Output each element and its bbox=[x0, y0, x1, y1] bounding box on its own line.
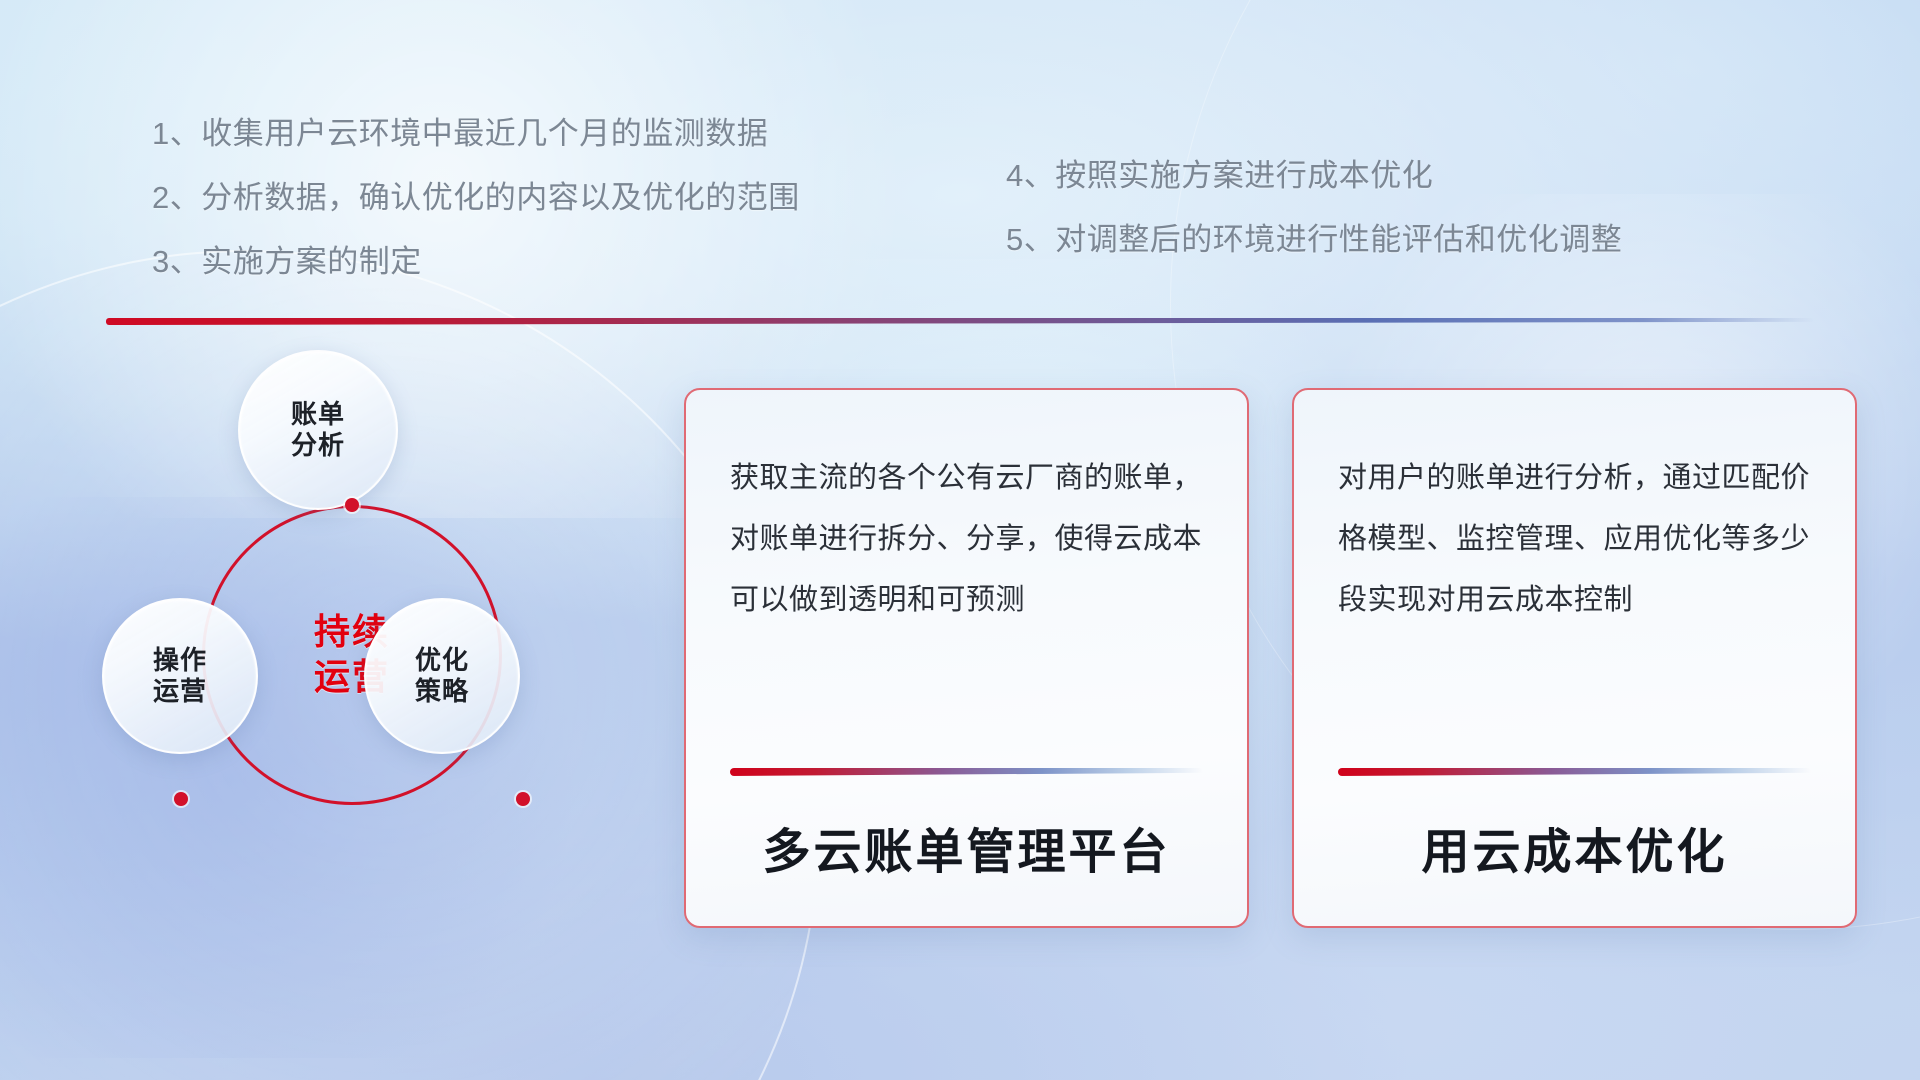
continuous-operations-diagram: 持续 运营 账单 分析 操作 运营 优化 策略 bbox=[96, 350, 626, 950]
step-item-5: 5、对调整后的环境进行性能评估和优化调整 bbox=[1006, 224, 1622, 255]
card1-title: 多云账单管理平台 bbox=[686, 812, 1247, 882]
step-item-2: 2、分析数据，确认优化的内容以及优化的范围 bbox=[152, 182, 800, 213]
node-operation-ops-label: 操作 运营 bbox=[153, 645, 207, 707]
steps-right-column: 4、按照实施方案进行成本优化 5、对调整后的环境进行性能评估和优化调整 bbox=[1006, 160, 1622, 288]
node-operation-ops-line1: 操作 bbox=[153, 645, 207, 675]
card-cloud-cost-optimization[interactable]: 对用户的账单进行分析，通过匹配价格模型、监控管理、应用优化等多少段实现对用云成本… bbox=[1292, 388, 1857, 928]
card2-divider bbox=[1338, 768, 1811, 776]
node-optimize-strategy-line1: 优化 bbox=[415, 645, 469, 675]
card1-body-text: 获取主流的各个公有云厂商的账单，对账单进行拆分、分享，使得云成本可以做到透明和可… bbox=[686, 390, 1247, 631]
node-bill-analysis[interactable]: 账单 分析 bbox=[238, 350, 398, 510]
steps-left-column: 1、收集用户云环境中最近几个月的监测数据 2、分析数据，确认优化的内容以及优化的… bbox=[152, 118, 800, 310]
node-bill-analysis-label: 账单 分析 bbox=[291, 399, 345, 461]
card1-divider bbox=[730, 768, 1203, 776]
node-optimize-strategy-line2: 策略 bbox=[415, 676, 469, 706]
card-multi-cloud-billing-platform[interactable]: 获取主流的各个公有云厂商的账单，对账单进行拆分、分享，使得云成本可以做到透明和可… bbox=[684, 388, 1249, 928]
step-item-1: 1、收集用户云环境中最近几个月的监测数据 bbox=[152, 118, 800, 149]
node-operation-ops-line2: 运营 bbox=[153, 676, 207, 706]
step-item-4: 4、按照实施方案进行成本优化 bbox=[1006, 160, 1622, 191]
node-bill-analysis-line2: 分析 bbox=[291, 430, 345, 460]
node-operation-ops[interactable]: 操作 运营 bbox=[102, 598, 258, 754]
node-dot-right-icon bbox=[516, 792, 530, 806]
step-item-3: 3、实施方案的制定 bbox=[152, 246, 800, 277]
node-optimize-strategy[interactable]: 优化 策略 bbox=[364, 598, 520, 754]
node-dot-left-icon bbox=[174, 792, 188, 806]
card2-title: 用云成本优化 bbox=[1294, 812, 1855, 882]
card2-body-text: 对用户的账单进行分析，通过匹配价格模型、监控管理、应用优化等多少段实现对用云成本… bbox=[1294, 390, 1855, 631]
node-optimize-strategy-label: 优化 策略 bbox=[415, 645, 469, 707]
node-bill-analysis-line1: 账单 bbox=[291, 399, 345, 429]
node-dot-top-icon bbox=[345, 498, 359, 512]
